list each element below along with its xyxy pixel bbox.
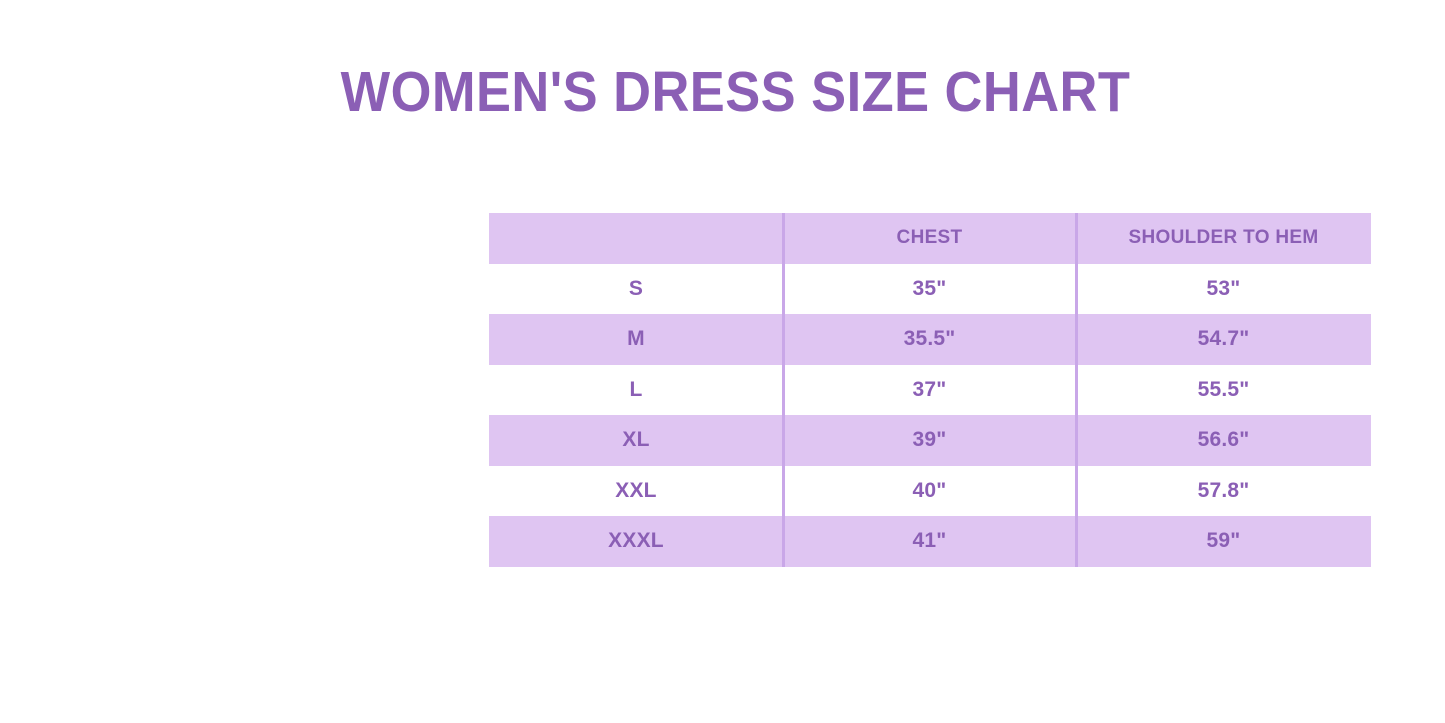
- cell-shoulder-to-hem: 53": [1076, 264, 1371, 315]
- cell-chest: 41": [783, 516, 1076, 567]
- table-row: XXL 40" 57.8": [489, 466, 1371, 517]
- cell-size: M: [489, 314, 783, 365]
- cell-shoulder-to-hem: 59": [1076, 516, 1371, 567]
- column-header-size: [489, 213, 783, 264]
- table-row: XXXL 41" 59": [489, 516, 1371, 567]
- size-chart-table-container: CHEST SHOULDER TO HEM S 35" 53" M 35.5" …: [489, 213, 1371, 567]
- table-row: S 35" 53": [489, 264, 1371, 315]
- cell-chest: 40": [783, 466, 1076, 517]
- cell-size: XXL: [489, 466, 783, 517]
- column-header-chest: CHEST: [783, 213, 1076, 264]
- table-row: L 37" 55.5": [489, 365, 1371, 416]
- cell-shoulder-to-hem: 54.7": [1076, 314, 1371, 365]
- cell-chest: 35": [783, 264, 1076, 315]
- cell-chest: 37": [783, 365, 1076, 416]
- cell-chest: 35.5": [783, 314, 1076, 365]
- size-chart-table: CHEST SHOULDER TO HEM S 35" 53" M 35.5" …: [489, 213, 1371, 567]
- table-header-row: CHEST SHOULDER TO HEM: [489, 213, 1371, 264]
- cell-size: S: [489, 264, 783, 315]
- page-title: WOMEN'S DRESS SIZE CHART: [71, 57, 1400, 127]
- column-header-shoulder-to-hem: SHOULDER TO HEM: [1076, 213, 1371, 264]
- cell-shoulder-to-hem: 56.6": [1076, 415, 1371, 466]
- cell-size: L: [489, 365, 783, 416]
- table-row: XL 39" 56.6": [489, 415, 1371, 466]
- cell-size: XXXL: [489, 516, 783, 567]
- cell-chest: 39": [783, 415, 1076, 466]
- table-body: S 35" 53" M 35.5" 54.7" L 37" 55.5" XL 3…: [489, 264, 1371, 567]
- cell-size: XL: [489, 415, 783, 466]
- table-row: M 35.5" 54.7": [489, 314, 1371, 365]
- table-header: CHEST SHOULDER TO HEM: [489, 213, 1371, 264]
- cell-shoulder-to-hem: 55.5": [1076, 365, 1371, 416]
- cell-shoulder-to-hem: 57.8": [1076, 466, 1371, 517]
